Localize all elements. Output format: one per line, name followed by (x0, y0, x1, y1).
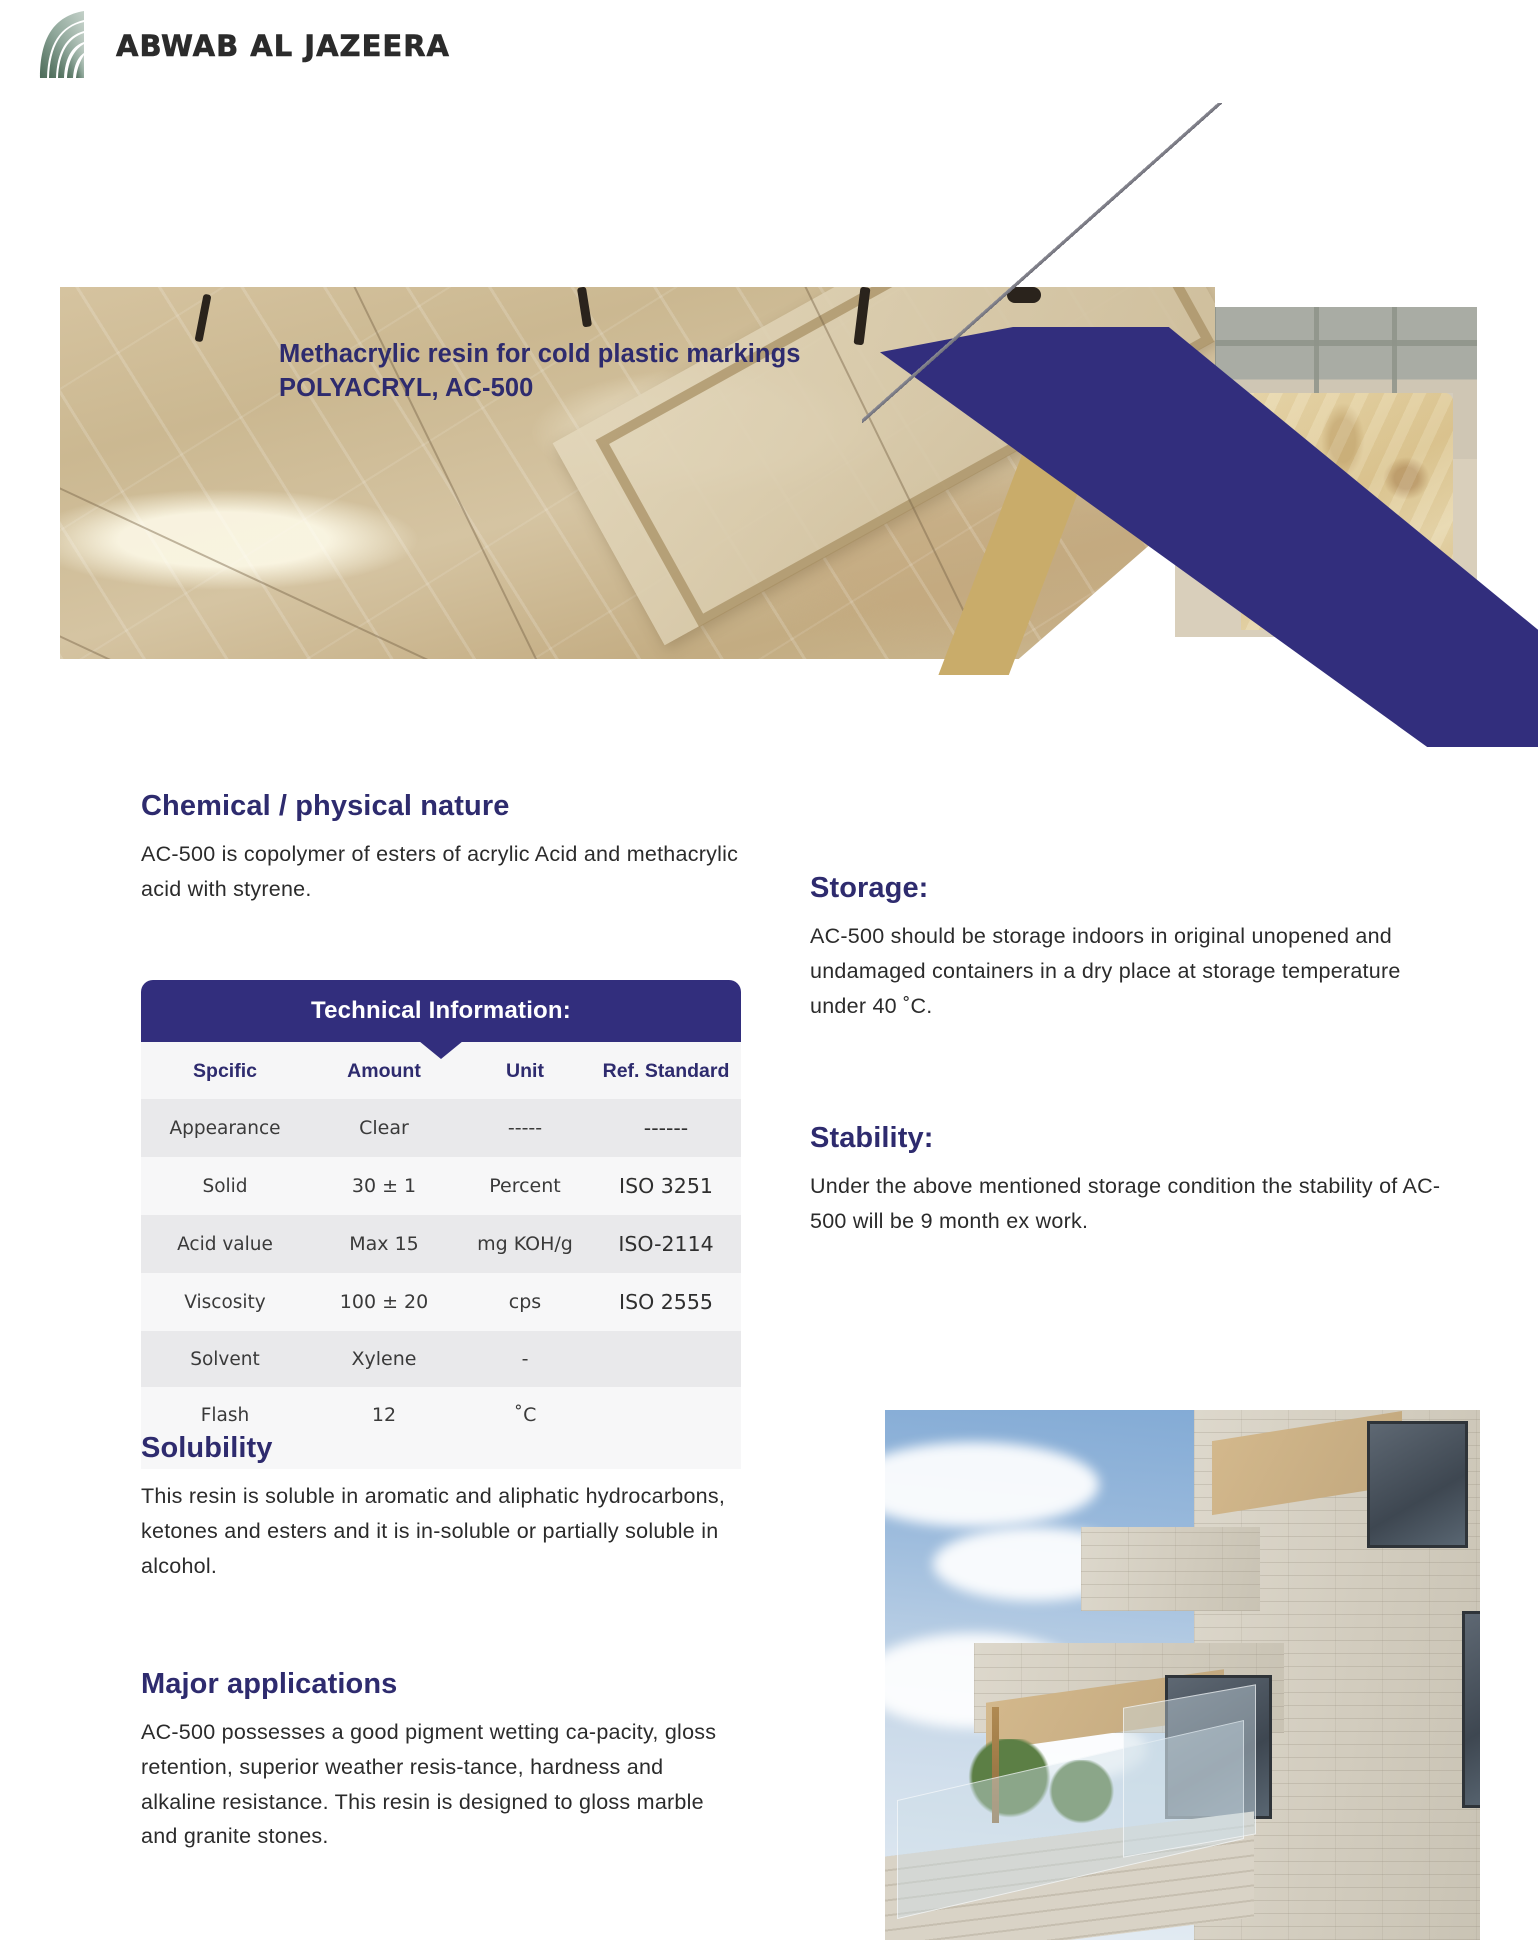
hero-title-line1: Methacrylic resin for cold plastic marki… (279, 338, 919, 372)
table-row: SolventXylene- (141, 1331, 741, 1387)
applications-heading: Major applications (141, 1668, 741, 1701)
table-banner: Technical Information: (141, 980, 741, 1042)
stability-body: Under the above mentioned storage condit… (810, 1169, 1455, 1239)
chemical-heading: Chemical / physical nature (141, 790, 741, 823)
cell-unit: ----- (459, 1099, 591, 1157)
table-row: Viscosity100 ± 20cpsISO 2555 (141, 1273, 741, 1331)
spec-table: Spcific Amount Unit Ref. Standard Appear… (141, 1042, 741, 1443)
solubility-section: Solubility This resin is soluble in arom… (141, 1432, 741, 1583)
datasheet-page: ABWAB AL JAZEERA (0, 0, 1538, 1940)
cell-ref (591, 1331, 741, 1387)
table-banner-title: Technical Information: (311, 997, 571, 1025)
cell-unit: cps (459, 1273, 591, 1331)
table-row: AppearanceClear----------- (141, 1099, 741, 1157)
cell-amount: Max 15 (309, 1215, 459, 1273)
building-photo (885, 1410, 1480, 1940)
chemical-section: Chemical / physical nature AC-500 is cop… (141, 790, 741, 907)
cell-amount: 30 ± 1 (309, 1157, 459, 1215)
chemical-body: AC-500 is copolymer of esters of acrylic… (141, 837, 741, 907)
solubility-heading: Solubility (141, 1432, 741, 1465)
cell-spcific: Solvent (141, 1331, 309, 1387)
stability-heading: Stability: (810, 1122, 1455, 1155)
hero-title: Methacrylic resin for cold plastic marki… (279, 338, 919, 406)
applications-body: AC-500 possesses a good pigment wetting … (141, 1715, 741, 1854)
cell-spcific: Acid value (141, 1215, 309, 1273)
applications-section: Major applications AC-500 possesses a go… (141, 1668, 741, 1854)
cell-ref: ISO 3251 (591, 1157, 741, 1215)
hero-banner: Methacrylic resin for cold plastic marki… (0, 95, 1538, 680)
storage-section: Storage: AC-500 should be storage indoor… (810, 872, 1455, 1023)
cell-ref: ISO 2555 (591, 1273, 741, 1331)
cell-unit: - (459, 1331, 591, 1387)
solubility-body: This resin is soluble in aromatic and al… (141, 1479, 741, 1583)
hero-title-line2: POLYACRYL, AC-500 (279, 372, 919, 406)
cell-ref: ------ (591, 1099, 741, 1157)
table-row: Solid30 ± 1PercentISO 3251 (141, 1157, 741, 1215)
col-header-spcific: Spcific (141, 1042, 309, 1099)
cell-amount: Clear (309, 1099, 459, 1157)
col-header-unit: Unit (459, 1042, 591, 1099)
col-header-ref: Ref. Standard (591, 1042, 741, 1099)
cell-spcific: Appearance (141, 1099, 309, 1157)
brand-logo: ABWAB AL JAZEERA (34, 8, 450, 84)
page-header: ABWAB AL JAZEERA (0, 0, 1538, 100)
technical-information-table: Technical Information: Spcific Amount Un… (141, 980, 741, 1469)
table-body: AppearanceClear-----------Solid30 ± 1Per… (141, 1099, 741, 1443)
banner-notch-icon (419, 1041, 463, 1059)
storage-heading: Storage: (810, 872, 1455, 905)
cell-amount: Xylene (309, 1331, 459, 1387)
cell-ref: ISO-2114 (591, 1215, 741, 1273)
storage-body: AC-500 should be storage indoors in orig… (810, 919, 1455, 1023)
cell-spcific: Solid (141, 1157, 309, 1215)
cell-unit: Percent (459, 1157, 591, 1215)
cell-amount: 100 ± 20 (309, 1273, 459, 1331)
stability-section: Stability: Under the above mentioned sto… (810, 1122, 1455, 1239)
cell-spcific: Viscosity (141, 1273, 309, 1331)
fan-shell-logo-icon (34, 8, 96, 84)
company-name: ABWAB AL JAZEERA (116, 29, 450, 63)
cell-unit: mg KOH/g (459, 1215, 591, 1273)
table-row: Acid valueMax 15mg KOH/gISO-2114 (141, 1215, 741, 1273)
